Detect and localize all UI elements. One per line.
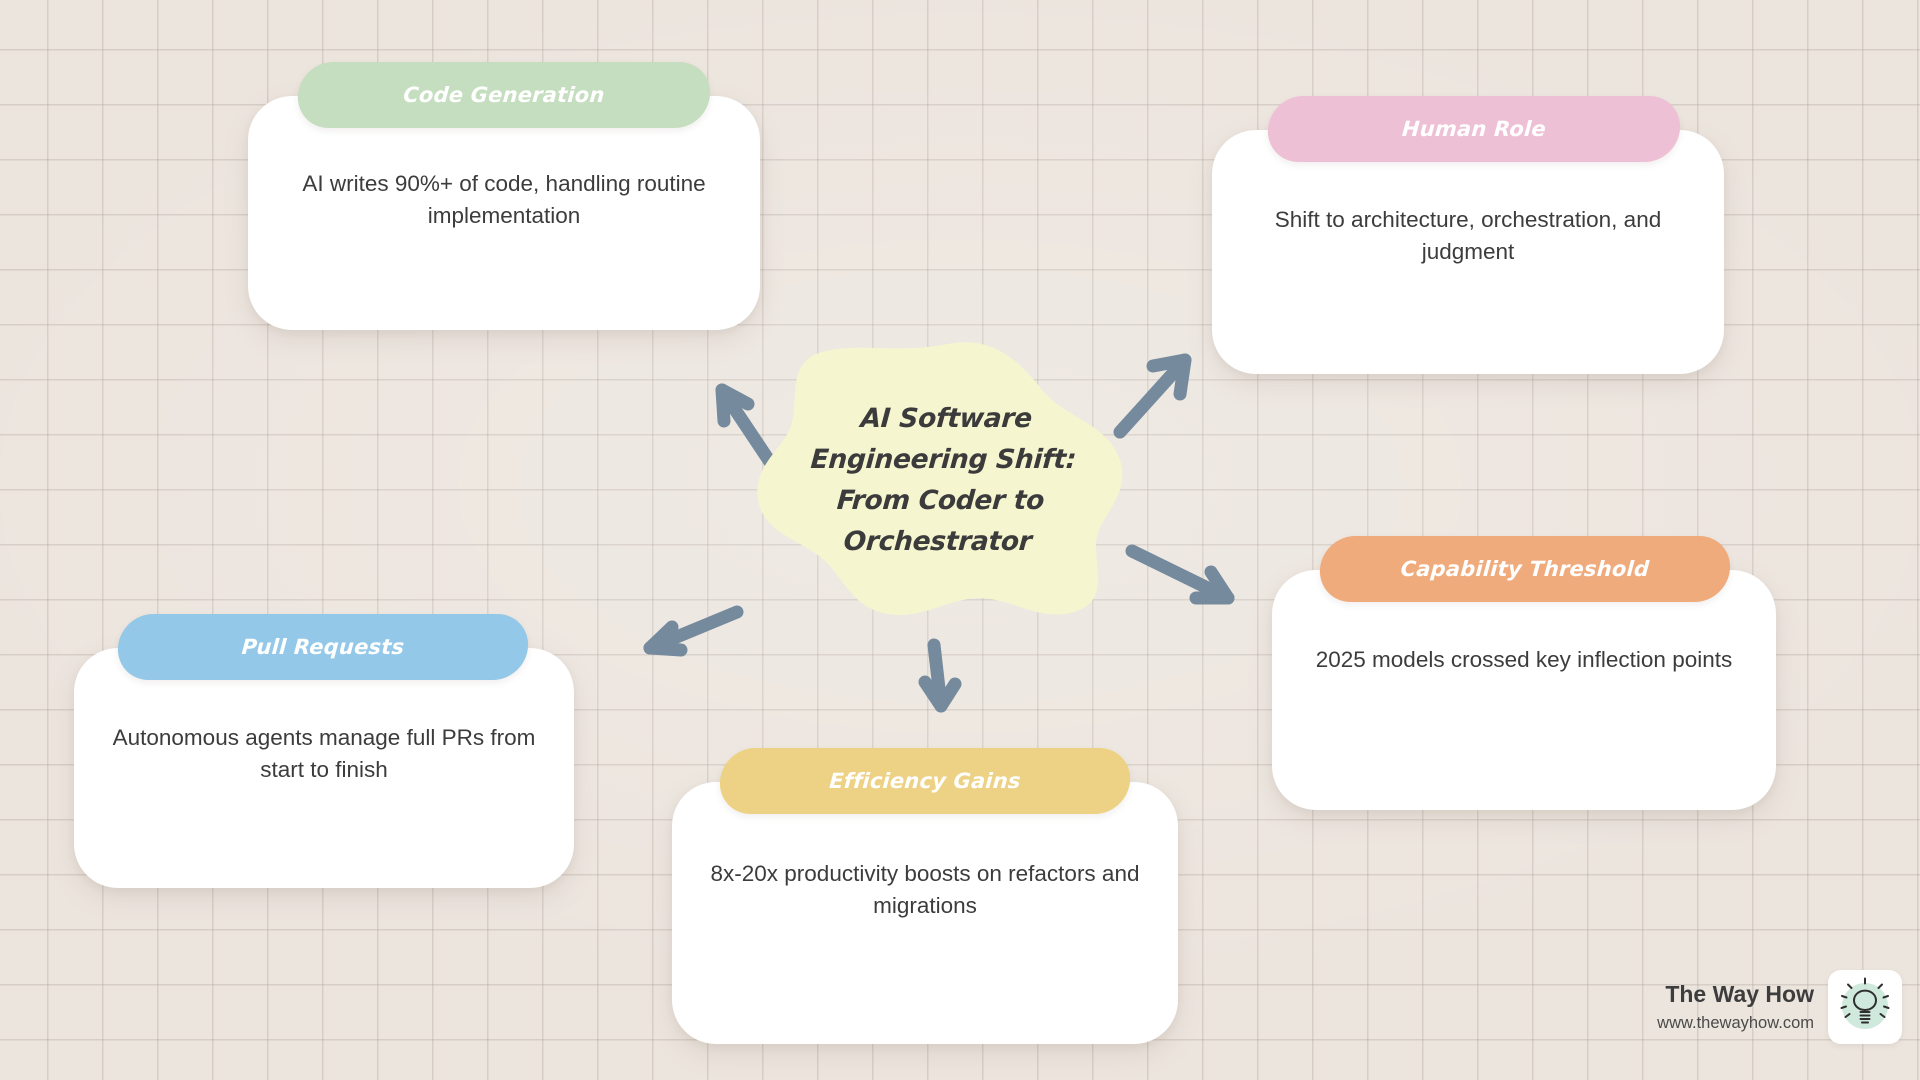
arrow-to-efficiency-gains bbox=[925, 645, 955, 706]
card-text: 8x-20x productivity boosts on refactors … bbox=[698, 858, 1152, 922]
card-title: Pull Requests bbox=[241, 635, 405, 659]
card-title: Efficiency Gains bbox=[828, 769, 1021, 793]
infographic-canvas: AI Software Engineering Shift: From Code… bbox=[0, 0, 1920, 1080]
card-text: AI writes 90%+ of code, handling routine… bbox=[274, 168, 734, 232]
card-header-pull-requests[interactable]: Pull Requests bbox=[116, 614, 531, 680]
center-title: AI Software Engineering Shift: From Code… bbox=[780, 340, 1104, 620]
card-header-code-generation[interactable]: Code Generation bbox=[296, 62, 713, 128]
card-body bbox=[1272, 570, 1776, 810]
card-header-capability-threshold[interactable]: Capability Threshold bbox=[1318, 536, 1733, 602]
watermark-text: The Way How www.thewayhow.com bbox=[1657, 980, 1814, 1033]
center-node: AI Software Engineering Shift: From Code… bbox=[752, 340, 1132, 620]
card-title: Capability Threshold bbox=[1400, 557, 1650, 581]
watermark-url[interactable]: www.thewayhow.com bbox=[1657, 1013, 1814, 1034]
card-header-efficiency-gains[interactable]: Efficiency Gains bbox=[718, 748, 1133, 814]
arrow-to-pull-requests bbox=[650, 612, 737, 650]
card-text: 2025 models crossed key inflection point… bbox=[1298, 644, 1750, 676]
watermark: The Way How www.thewayhow.com bbox=[1657, 970, 1902, 1044]
card-text: Shift to architecture, orchestration, an… bbox=[1238, 204, 1698, 268]
watermark-brand: The Way How bbox=[1657, 980, 1814, 1009]
card-title: Code Generation bbox=[403, 83, 606, 107]
card-header-human-role[interactable]: Human Role bbox=[1266, 96, 1683, 162]
arrow-to-capability-threshold bbox=[1132, 551, 1228, 598]
card-text: Autonomous agents manage full PRs from s… bbox=[100, 722, 548, 786]
lightbulb-icon bbox=[1834, 976, 1896, 1038]
watermark-logo bbox=[1828, 970, 1902, 1044]
card-title: Human Role bbox=[1401, 117, 1547, 141]
